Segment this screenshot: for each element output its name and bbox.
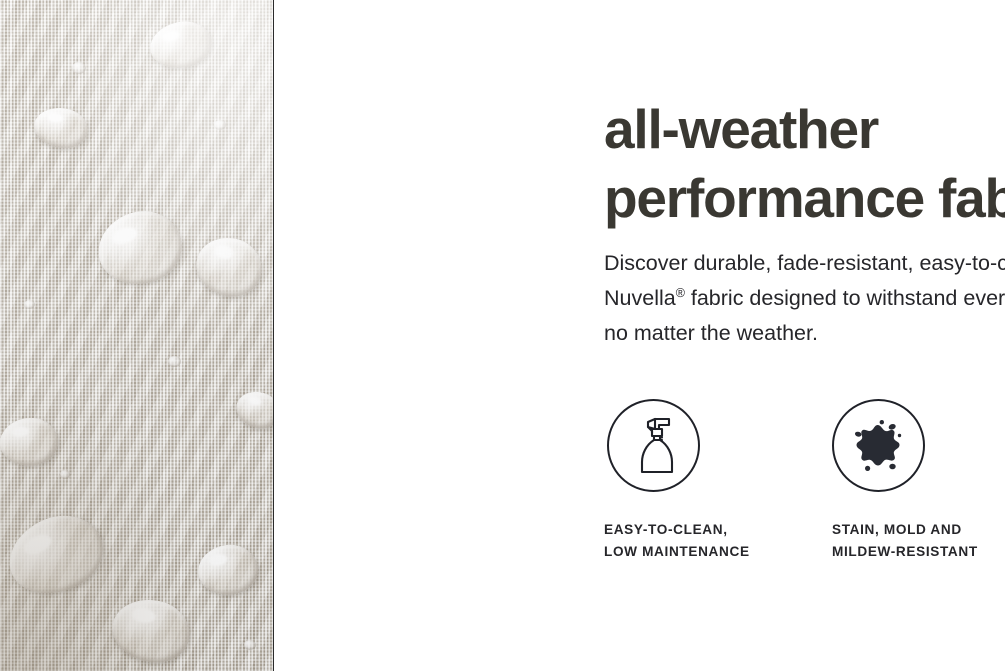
feature-caption-line-2: LOW MAINTENANCE [604,541,814,563]
stain-splatter-icon [832,399,925,492]
headline-line-2: performance fabric [604,164,1005,233]
subcopy-line-1: Discover durable, fade-resistant, easy-t… [604,246,1005,281]
feature-caption-line-1: STAIN, MOLD AND [832,519,1005,541]
promo-banner: all-weather performance fabric Discover … [0,0,1005,671]
headline-line-1: all-weather [604,95,1005,164]
brand-name: Nuvella [604,286,676,310]
feature-caption-line-2: MILDEW-RESISTANT [832,541,1005,563]
feature-easy-to-clean: EASY-TO-CLEAN, LOW MAINTENANCE [604,399,814,563]
feature-stain-resistant: STAIN, MOLD AND MILDEW-RESISTANT [832,399,1005,563]
spray-bottle-icon [607,399,700,492]
feature-caption: EASY-TO-CLEAN, LOW MAINTENANCE [604,519,814,563]
feature-caption: STAIN, MOLD AND MILDEW-RESISTANT [832,519,1005,563]
registered-trademark-icon: ® [676,286,685,300]
subcopy-line-2: Nuvella® fabric designed to withstand ev… [604,281,1005,316]
subcopy-line-2-rest: fabric designed to withstand everyday li… [685,286,1005,310]
subcopy: Discover durable, fade-resistant, easy-t… [604,246,1005,351]
fabric-photo-panel [0,0,274,671]
page-title: all-weather performance fabric [604,95,1005,233]
feature-caption-line-1: EASY-TO-CLEAN, [604,519,814,541]
content-panel: all-weather performance fabric Discover … [274,0,1005,671]
fabric-lighting-overlay [0,0,273,671]
subcopy-line-3: no matter the weather. [604,316,1005,351]
